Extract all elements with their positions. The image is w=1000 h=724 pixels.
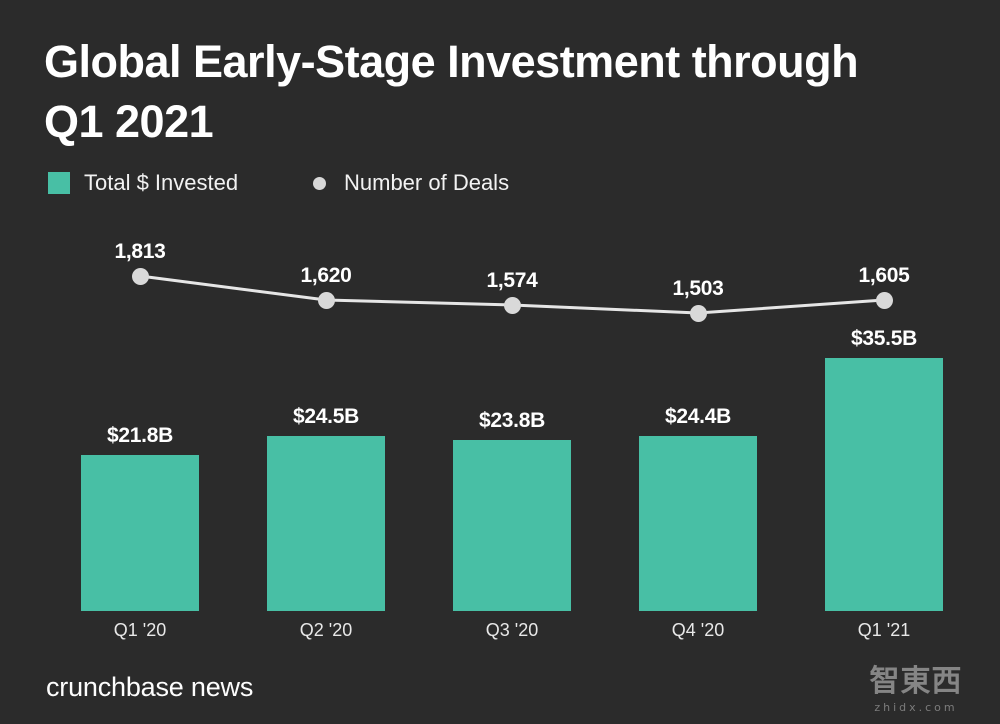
brand-logo: crunchbase news [46, 672, 253, 703]
line-value-label-3: 1,574 [452, 269, 572, 293]
line-marker-2 [318, 292, 335, 309]
line-value-label-2: 1,620 [266, 264, 386, 288]
bar-value-label-1: $21.8B [81, 424, 199, 448]
x-axis-label-1: Q1 '20 [81, 620, 199, 641]
line-marker-1 [132, 268, 149, 285]
line-marker-3 [504, 297, 521, 314]
x-axis-label-4: Q4 '20 [639, 620, 757, 641]
bar-value-label-5: $35.5B [825, 327, 943, 351]
line-marker-5 [876, 292, 893, 309]
x-axis-label-2: Q2 '20 [267, 620, 385, 641]
chart-canvas: Global Early-Stage Investment through Q1… [0, 0, 1000, 724]
bar-2 [267, 436, 385, 611]
bar-value-label-2: $24.5B [267, 405, 385, 429]
watermark-zhidx: 智東西 zhidx.com [850, 652, 982, 714]
line-value-label-1: 1,813 [80, 240, 200, 264]
bar-value-label-3: $23.8B [453, 409, 571, 433]
bar-3 [453, 440, 571, 611]
line-marker-4 [690, 305, 707, 322]
line-value-label-5: 1,605 [824, 264, 944, 288]
line-value-label-4: 1,503 [638, 277, 758, 301]
watermark-glyphs: 智東西 [870, 667, 963, 697]
bar-4 [639, 436, 757, 611]
watermark-url: zhidx.com [874, 701, 957, 714]
bar-value-label-4: $24.4B [639, 405, 757, 429]
x-axis-label-5: Q1 '21 [825, 620, 943, 641]
plot-area: $21.8B$24.5B$23.8B$24.4B$35.5BQ1 '20Q2 '… [0, 0, 1000, 724]
bar-1 [81, 455, 199, 611]
x-axis-label-3: Q3 '20 [453, 620, 571, 641]
bar-5 [825, 358, 943, 611]
